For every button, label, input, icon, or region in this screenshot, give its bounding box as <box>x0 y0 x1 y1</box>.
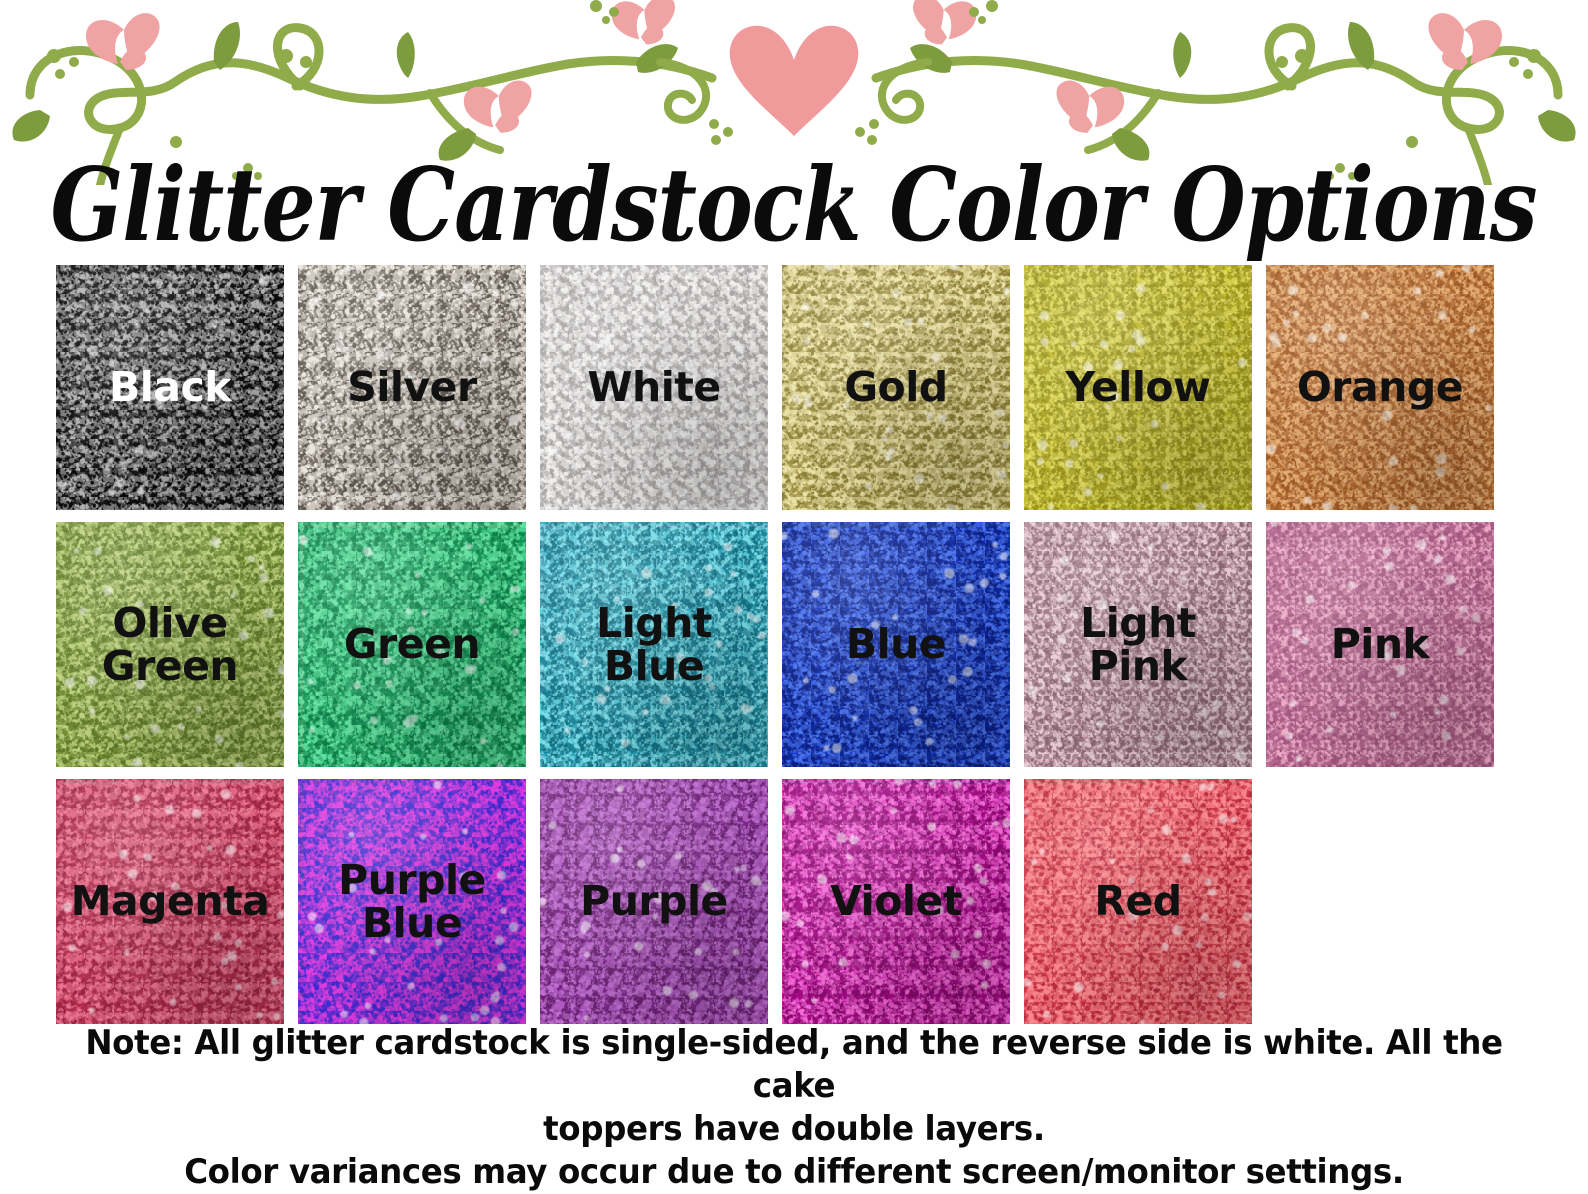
swatch-label-light-pink: Light Pink <box>1080 602 1196 687</box>
swatch-label-pink: Pink <box>1331 623 1430 666</box>
swatch-label-silver: Silver <box>347 366 476 409</box>
footer-note: Note: All glitter cardstock is single-si… <box>24 1022 1564 1194</box>
swatch-purple[interactable]: Purple <box>540 779 768 1024</box>
swatch-label-red: Red <box>1094 880 1181 923</box>
swirl-left <box>660 62 706 120</box>
swatch-pink[interactable]: Pink <box>1266 522 1494 767</box>
swatch-row: MagentaPurple BluePurpleVioletRed <box>56 779 1508 1024</box>
page-title: Glitter Cardstock Color Options <box>51 155 1537 256</box>
swatch-label-light-blue: Light Blue <box>596 602 712 687</box>
swatch-green[interactable]: Green <box>298 522 526 767</box>
swatch-olive-green[interactable]: Olive Green <box>56 522 284 767</box>
swatch-label-yellow: Yellow <box>1066 366 1211 409</box>
heart-icon <box>730 26 859 136</box>
swatch-label-violet: Violet <box>830 880 962 923</box>
swirl-dots <box>709 119 879 145</box>
swatch-label-white: White <box>587 366 720 409</box>
swatch-yellow[interactable]: Yellow <box>1024 265 1252 510</box>
swatch-white[interactable]: White <box>540 265 768 510</box>
swatch-silver[interactable]: Silver <box>298 265 526 510</box>
swatch-violet[interactable]: Violet <box>782 779 1010 1024</box>
swatch-blue[interactable]: Blue <box>782 522 1010 767</box>
swatch-label-magenta: Magenta <box>71 880 270 923</box>
swatch-label-blue: Blue <box>846 623 946 666</box>
footer-line: Note: All glitter cardstock is single-si… <box>24 1022 1564 1108</box>
swatch-gold[interactable]: Gold <box>782 265 1010 510</box>
swatch-label-black: Black <box>109 366 231 409</box>
swatch-light-blue[interactable]: Light Blue <box>540 522 768 767</box>
swatch-label-green: Green <box>344 623 480 666</box>
footer-line: toppers have double layers. <box>24 1108 1564 1151</box>
swatch-label-olive-green: Olive Green <box>102 602 238 687</box>
swatch-red[interactable]: Red <box>1024 779 1252 1024</box>
swatch-purple-blue[interactable]: Purple Blue <box>298 779 526 1024</box>
swatch-label-purple-blue: Purple Blue <box>338 859 486 944</box>
swatch-row: BlackSilverWhiteGoldYellowOrange <box>56 265 1508 510</box>
swatch-black[interactable]: Black <box>56 265 284 510</box>
swatch-magenta[interactable]: Magenta <box>56 779 284 1024</box>
swatch-label-purple: Purple <box>580 880 728 923</box>
swatch-row: Olive GreenGreenLight BlueBlueLight Pink… <box>56 522 1508 767</box>
swatch-grid: BlackSilverWhiteGoldYellowOrangeOlive Gr… <box>56 265 1508 1024</box>
page-title-wrap: Glitter Cardstock Color Options <box>0 150 1588 262</box>
swatch-label-orange: Orange <box>1297 366 1463 409</box>
swatch-orange[interactable]: Orange <box>1266 265 1494 510</box>
swirl-right <box>882 62 928 120</box>
footer-line: Color variances may occur due to differe… <box>24 1151 1564 1194</box>
swatch-light-pink[interactable]: Light Pink <box>1024 522 1252 767</box>
swatch-label-gold: Gold <box>844 366 947 409</box>
